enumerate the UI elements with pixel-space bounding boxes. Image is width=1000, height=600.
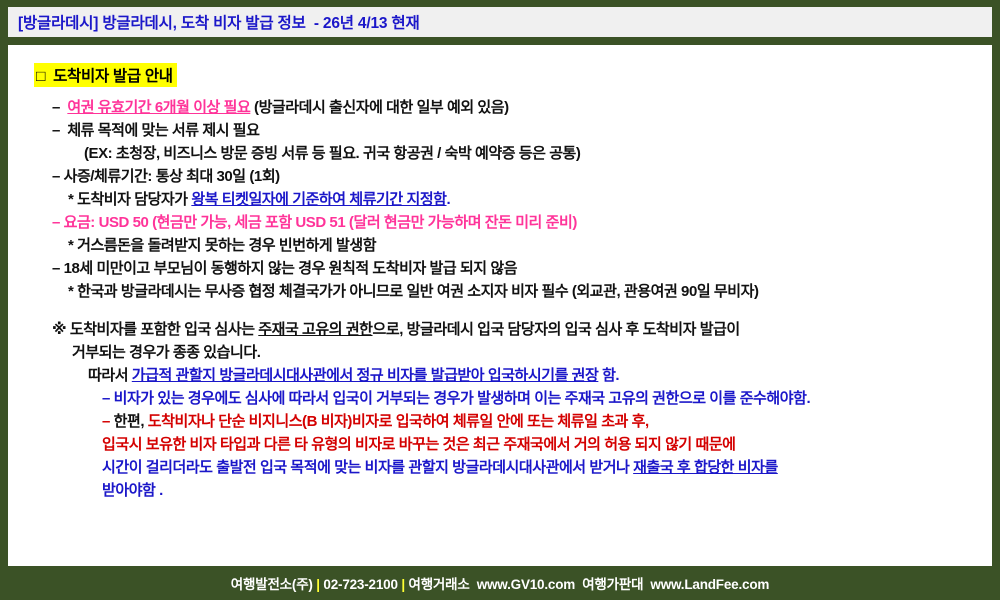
footer-link-gv10[interactable]: www.GV10.com — [477, 577, 575, 592]
spacer — [22, 303, 978, 319]
recommend-prefix: 따라서 — [88, 367, 132, 384]
note-prefix: 도착비자를 포함한 입국 심사는 — [66, 321, 258, 338]
embassy-visa-link: 가급적 관할지 방글라데시대사관에서 정규 비자를 발급받아 입국하시기를 권장 — [132, 367, 599, 384]
list-item: * 거스름돈을 돌려받지 못하는 경우 빈번하게 발생함 — [22, 235, 978, 258]
fee-text: – 요금: USD 50 (현금만 가능, 세금 포함 USD 51 (달러 현… — [52, 214, 577, 231]
passport-validity-note: (방글라데시 출신자에 대한 일부 예외 있음) — [250, 99, 508, 116]
minor-rule-text-end: 음 — [504, 260, 517, 277]
dash-marker: – — [102, 413, 114, 430]
footer-company: 여행발전소(주) — [231, 577, 313, 592]
section-heading-label: 도착비자 발급 안내 — [53, 68, 173, 85]
list-item: * 한국과 방글라데시는 무사증 협정 체결국가가 아니므로 일반 여권 소지자… — [22, 281, 978, 304]
note-mark-icon: ※ — [52, 321, 66, 338]
footer-separator: | — [398, 577, 409, 592]
document-page: [방글라데시] 방글라데시, 도착 비자 발급 정보 - 26년 4/13 현재… — [0, 0, 1000, 600]
documents-example-text: (EX: 초청장, 비즈니스 방문 증빙 서류 등 필요. 귀국 항공권 / 숙… — [84, 145, 580, 162]
note-line: 받아야함 . — [22, 480, 978, 503]
footer-separator: | — [313, 577, 324, 592]
duration-note-prefix: * 도착비자 담당자가 — [68, 191, 191, 208]
meanwhile-label: 한편 — [114, 413, 141, 430]
section-heading: □ 도착비자 발급 안내 — [34, 63, 978, 87]
footer-phone: 02-723-2100 — [323, 577, 397, 592]
list-item: – 체류 목적에 맞는 서류 제시 필요 — [22, 120, 978, 143]
no-visa-agreement-text: * 한국과 방글라데시는 무사증 협정 체결국가가 아니므로 일반 여권 소지자… — [68, 283, 759, 300]
footer-bar: 여행발전소(주) | 02-723-2100 | 여행거래소 www.GV10.… — [0, 566, 1000, 600]
footer-link-landfee[interactable]: www.LandFee.com — [650, 577, 769, 592]
info-list: – 여권 유효기간 6개월 이상 필요 (방글라데시 출신자에 대한 일부 예외… — [22, 97, 978, 503]
list-item: – 요금: USD 50 (현금만 가능, 세금 포함 USD 51 (달러 현… — [22, 212, 978, 235]
window-titlebar: [방글라데시] 방글라데시, 도착 비자 발급 정보 - 26년 4/13 현재 — [8, 7, 992, 37]
footer-label-gv10: 여행거래소 — [408, 577, 469, 592]
footer-content: 여행발전소(주) | 02-723-2100 | 여행거래소 www.GV10.… — [231, 573, 769, 593]
list-item: – 여권 유효기간 6개월 이상 필요 (방글라데시 출신자에 대한 일부 예외… — [22, 97, 978, 120]
footer-label-landfee: 여행가판대 — [582, 577, 643, 592]
note-line: – 한편, 도착비자나 단순 비지니스(B 비자)비자로 입국하여 체류일 안에… — [22, 411, 978, 434]
list-item: (EX: 초청장, 비즈니스 방문 증빙 서류 등 필요. 귀국 항공권 / 숙… — [22, 143, 978, 166]
dash-marker: – — [52, 99, 60, 116]
advice-prefix: 시간이 걸리더라도 출발전 입국 목적에 맞는 비자를 관할지 방글라데시대사관… — [102, 459, 633, 476]
note-line: 시간이 걸리더라도 출발전 입국 목적에 맞는 비자를 관할지 방글라데시대사관… — [22, 457, 978, 480]
list-item: * 도착비자 담당자가 왕복 티켓일자에 기준하여 체류기간 지정함. — [22, 189, 978, 212]
advice-suffix: 받아야함 . — [102, 482, 163, 499]
section-heading-text: □ 도착비자 발급 안내 — [34, 63, 177, 87]
documents-required-text: – 체류 목적에 맞는 서류 제시 필요 — [52, 122, 259, 139]
note-line: ※ 도착비자를 포함한 입국 심사는 주재국 고유의 권한으로, 방글라데시 입… — [22, 319, 978, 342]
change-note-text: * 거스름돈을 돌려받지 못하는 경우 빈번하게 발생함 — [68, 237, 376, 254]
meanwhile-comma: , — [140, 413, 147, 430]
page-title: [방글라데시] 방글라데시, 도착 비자 발급 정보 - 26년 4/13 현재 — [18, 11, 420, 33]
visa-change-warning-text: 입국시 보유한 비자 타입과 다른 타 유형의 비자로 바꾸는 것은 최근 주재… — [102, 436, 736, 453]
visa-refusal-note-text: – 비자가 있는 경우에도 심사에 따라서 입국이 거부되는 경우가 발생하며 … — [102, 390, 810, 407]
list-item: – 18세 미만이고 부모님이 동행하지 않는 경우 원칙적 도착비자 발급 되… — [22, 258, 978, 281]
sovereign-authority-link: 주재국 고유의 권한 — [258, 321, 372, 338]
content-sheet: □ 도착비자 발급 안내 – 여권 유효기간 6개월 이상 필요 (방글라데시 … — [8, 45, 992, 566]
reentry-visa-link: 재출국 후 합당한 비자를 — [633, 459, 778, 476]
duration-note-suffix: . — [447, 191, 451, 208]
note-line: – 비자가 있는 경우에도 심사에 따라서 입국이 거부되는 경우가 발생하며 … — [22, 388, 978, 411]
note-line: 따라서 가급적 관할지 방글라데시대사관에서 정규 비자를 발급받아 입국하시기… — [22, 365, 978, 388]
note-line: 거부되는 경우가 종종 있습니다. — [22, 342, 978, 365]
list-item: – 사증/체류기간: 통상 최대 30일 (1회) — [22, 166, 978, 189]
minor-rule-text: – 18세 미만이고 부모님이 동행하지 않는 경우 원칙적 도착비자 발급 되… — [52, 260, 504, 277]
note-suffix: 으로, 방글라데시 입국 담당자의 입국 심사 후 도착비자 발급이 — [373, 321, 740, 338]
note-refusal-text: 거부되는 경우가 종종 있습니다. — [72, 344, 260, 361]
return-ticket-link: 왕복 티켓일자에 기준하여 체류기간 지정함 — [191, 191, 446, 208]
passport-validity-link: 여권 유효기간 6개월 이상 필요 — [67, 99, 250, 116]
visa-duration-text: – 사증/체류기간: 통상 최대 30일 (1회) — [52, 168, 280, 185]
business-visa-warning-text: 도착비자나 단순 비지니스(B 비자)비자로 입국하여 체류일 안에 또는 체류… — [148, 413, 649, 430]
recommend-suffix: 함. — [598, 367, 619, 384]
section-bullet-icon: □ — [36, 68, 45, 85]
note-line: 입국시 보유한 비자 타입과 다른 타 유형의 비자로 바꾸는 것은 최근 주재… — [22, 434, 978, 457]
